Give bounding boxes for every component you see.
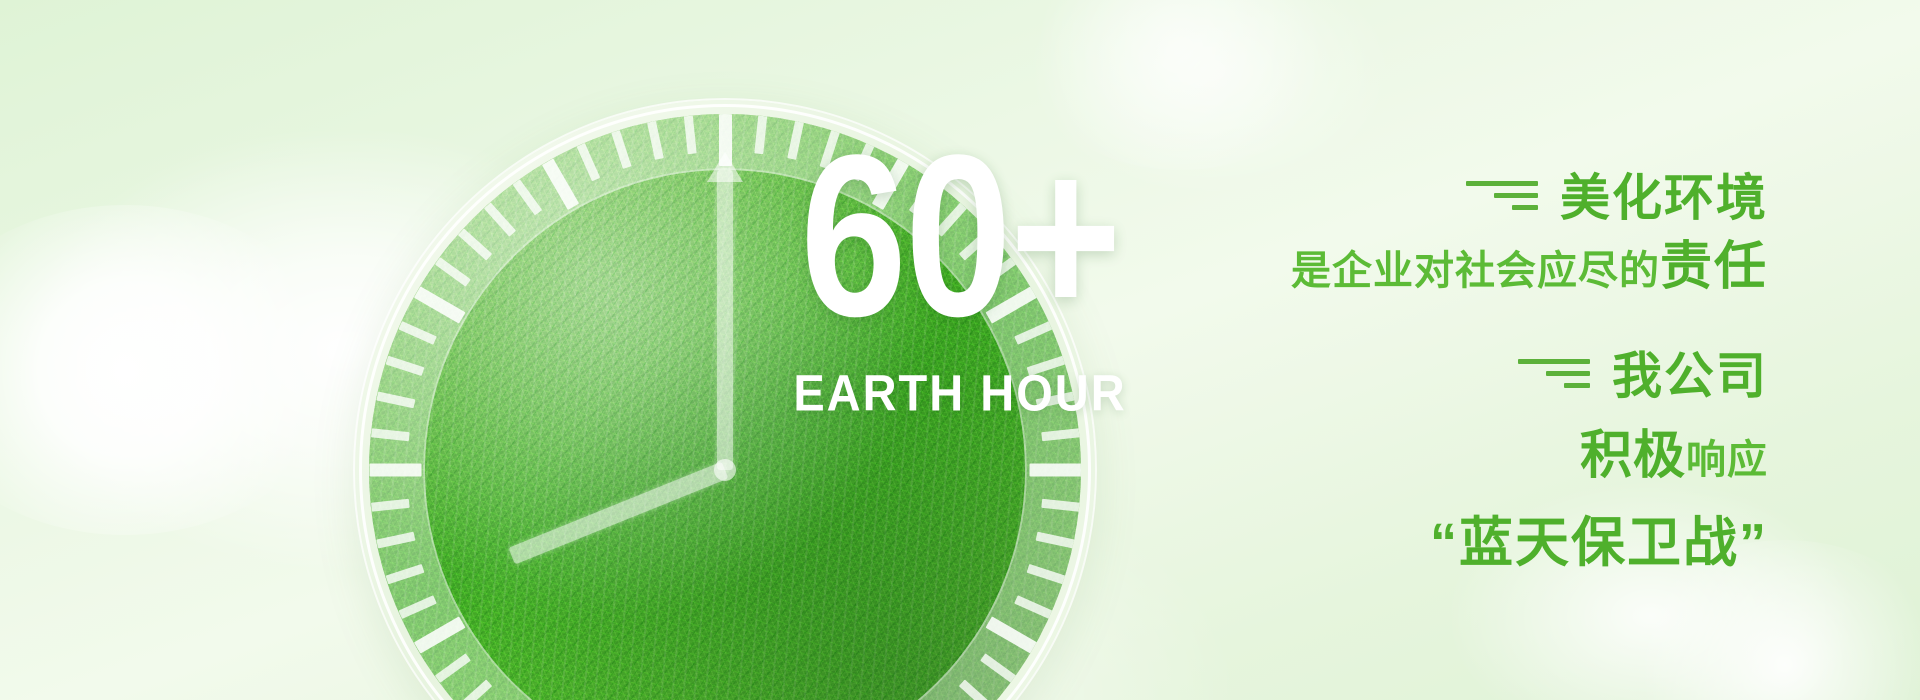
headline-row-2: 我公司 [1128,350,1768,403]
earth-hour-clock [355,100,1095,700]
headline-our-company: 我公司 [1612,350,1768,403]
clock-hand-arrow-icon [707,152,743,182]
clock-center-cap [714,459,736,481]
subline-actively-respond: 积极响应 [1128,413,1768,488]
deco-lines-icon-2 [1518,359,1590,394]
subline-emphasis-text: 责任 [1660,238,1768,296]
bokeh-light-left [0,205,340,535]
clock-face-grass [369,114,1081,700]
subline-corporate-responsibility: 是企业对社会应尽的责任 [1128,239,1768,296]
clock-minute-hand [717,170,733,470]
earth-hour-banner: 60+ EARTH HOUR 美化环境 是企业对社会应尽的责任 我公司 [0,0,1920,700]
headline-beautify-environment: 美化环境 [1560,172,1768,225]
subline-blue-sky-campaign: “蓝天保卫战” [1128,498,1768,577]
copy-block-1: 美化环境 是企业对社会应尽的责任 [1128,172,1768,296]
copy-block-2: 我公司 积极响应 “蓝天保卫战” [1128,350,1768,577]
headline-row-1: 美化环境 [1128,172,1768,225]
deco-lines-icon-1 [1466,181,1538,216]
subline-normal-text: 是企业对社会应尽的 [1291,249,1660,293]
subline-emphasis-active: 积极 [1580,427,1686,485]
subline-normal-respond: 响应 [1686,438,1768,482]
marketing-copy: 美化环境 是企业对社会应尽的责任 我公司 积极响应 “蓝天保卫战” [1128,172,1768,577]
